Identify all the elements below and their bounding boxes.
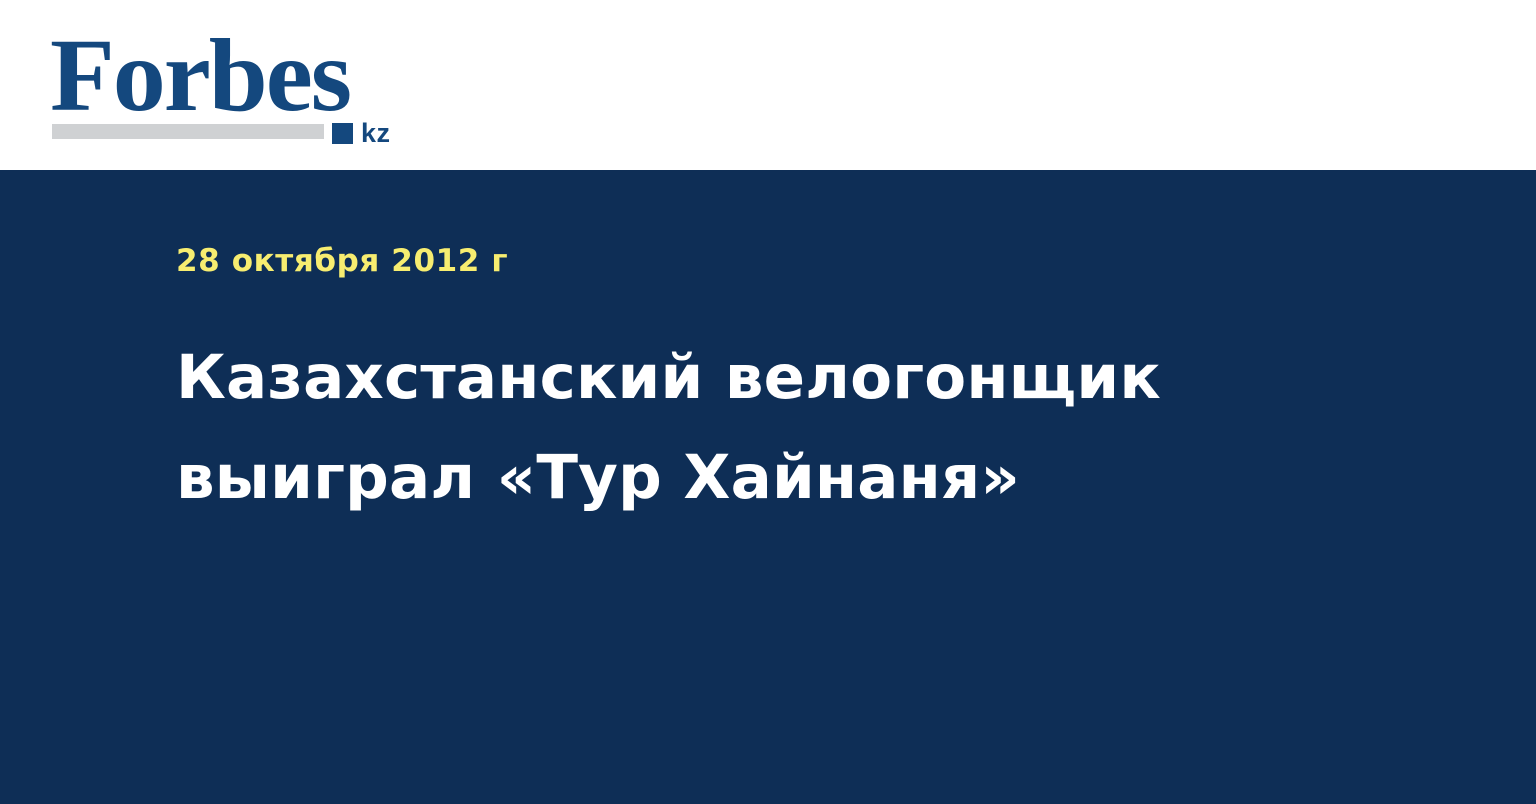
article-date: 28 октября 2012 г	[176, 170, 1376, 280]
forbes-kz-logo[interactable]: Forbes kz	[50, 24, 410, 144]
article-title-line: Казахстанский велогонщик	[176, 328, 1186, 428]
logo-wordmark: Forbes	[50, 24, 350, 128]
article-title: Казахстанский велогонщик выиграл «Тур Ха…	[176, 280, 1186, 528]
logo-suffix-label: kz	[361, 120, 391, 147]
logo-underline-rule	[52, 124, 324, 139]
article-hero-banner: 28 октября 2012 г Казахстанский велогонщ…	[0, 170, 1536, 804]
site-header: Forbes kz	[0, 0, 1536, 170]
hero-content: 28 октября 2012 г Казахстанский велогонщ…	[176, 170, 1376, 528]
logo-suffix: kz	[332, 120, 391, 147]
square-icon	[332, 123, 353, 144]
article-hero-page: Forbes kz 28 октября 2012 г Казахстански…	[0, 0, 1536, 804]
article-title-line: выиграл «Тур Хайнаня»	[176, 428, 1186, 528]
